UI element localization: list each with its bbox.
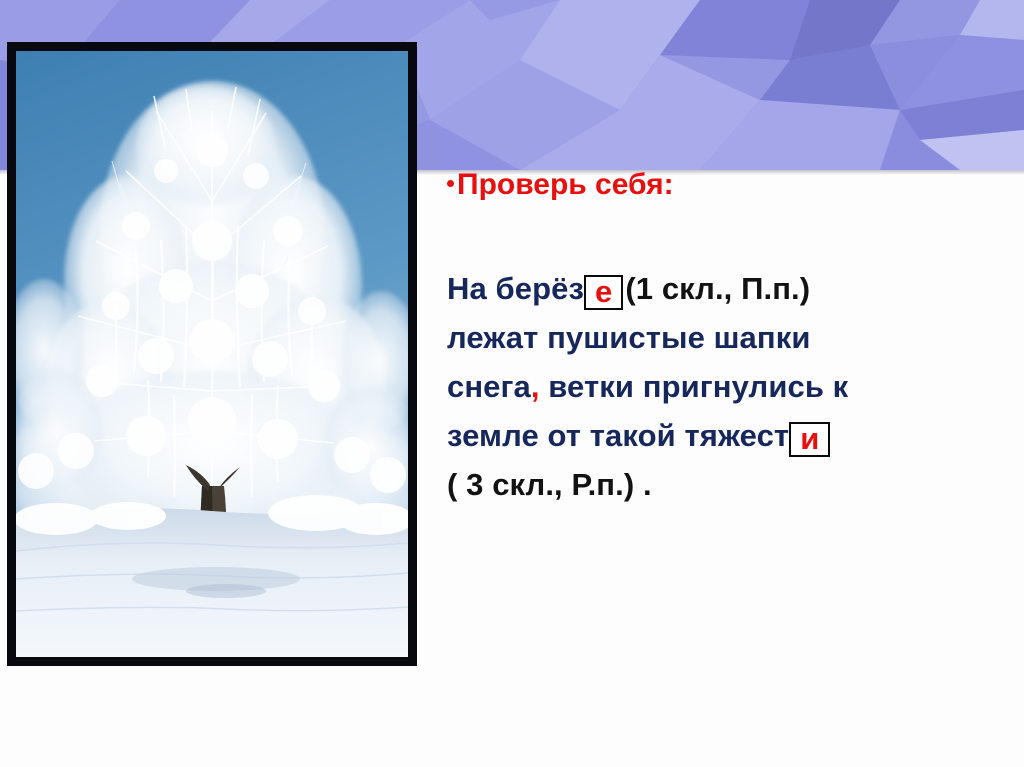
line1-part1: На берёз bbox=[447, 271, 584, 306]
line2-text: лежат пушистые шапки bbox=[447, 320, 811, 355]
answer-box-e[interactable]: е bbox=[584, 275, 623, 310]
line3-part1: снега bbox=[447, 369, 531, 404]
winter-birch-tree-photo bbox=[16, 51, 408, 657]
bullet-icon bbox=[447, 180, 454, 187]
winter-birch-tree-photo-frame bbox=[7, 42, 417, 666]
sentence-line-4: земле от такой тяжести bbox=[447, 411, 1007, 460]
sentence-line-2: лежат пушистые шапки bbox=[447, 313, 1007, 362]
line3-part2: ветки пригнулись к bbox=[540, 369, 849, 404]
line4-part1: земле от такой тяжест bbox=[447, 418, 789, 453]
photo-artwork bbox=[16, 51, 408, 657]
check-yourself-heading: Проверь себя: bbox=[447, 168, 1007, 202]
line3-comma: , bbox=[531, 369, 540, 404]
answer-sentence: На берёзе(1 скл., П.п.) лежат пушистые ш… bbox=[447, 264, 1007, 509]
line1-grammar-note: (1 скл., П.п.) bbox=[625, 271, 810, 306]
slide-canvas: Проверь себя: На берёзе(1 скл., П.п.) ле… bbox=[0, 0, 1024, 767]
check-yourself-heading-text: Проверь себя: bbox=[457, 168, 674, 201]
sentence-line-3: снега, ветки пригнулись к bbox=[447, 362, 1007, 411]
answer-box-i[interactable]: и bbox=[789, 422, 830, 457]
text-column: Проверь себя: На берёзе(1 скл., П.п.) ле… bbox=[447, 168, 1007, 509]
sentence-line-1: На берёзе(1 скл., П.п.) bbox=[447, 264, 1007, 313]
final-grammar-note: ( 3 скл., Р.п.) . bbox=[447, 460, 1007, 509]
